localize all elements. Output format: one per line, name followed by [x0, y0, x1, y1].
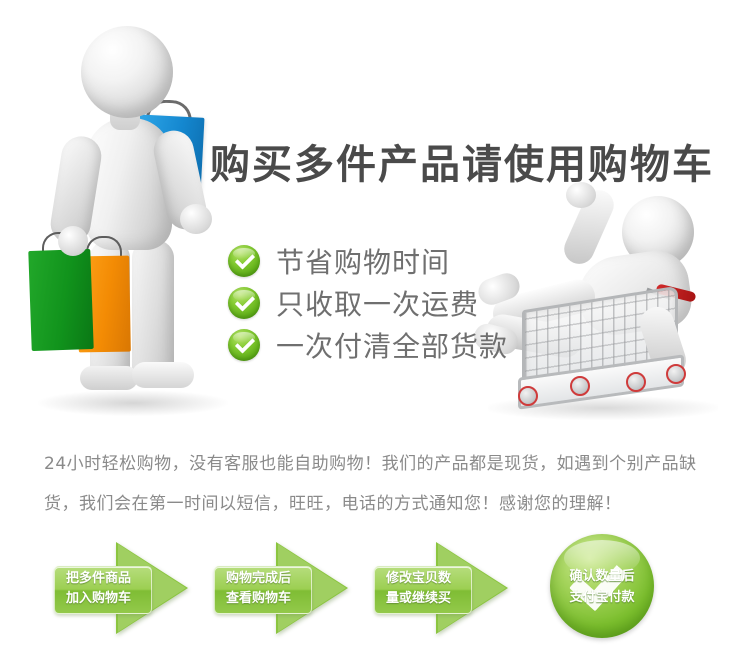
- cart-wheel: [570, 376, 590, 396]
- hero-section: 购买多件产品请使用购物车 节省购物时间 只收取一次运费 一次付清全部货款: [0, 0, 750, 430]
- step-label-line1: 购物完成后: [226, 569, 312, 589]
- step-label: 购物完成后 查看购物车: [220, 569, 312, 609]
- step-label-line1: 修改宝贝数: [386, 569, 472, 589]
- cart-wheel: [666, 364, 686, 384]
- status-badge: 确认数量后 支付宝付款: [550, 534, 654, 638]
- step-label: 把多件商品 加入购物车: [60, 569, 152, 609]
- cart-wheel: [626, 372, 646, 392]
- shopping-bag-green: [28, 249, 93, 351]
- shopper-figure-illustration: [28, 18, 248, 418]
- list-item: 节省购物时间: [228, 240, 508, 282]
- list-item-label: 一次付清全部货款: [276, 325, 508, 365]
- arrow-shape: 把多件商品 加入购物车: [54, 540, 214, 636]
- badge-label-line2: 支付宝付款: [550, 587, 654, 608]
- benefits-list: 节省购物时间 只收取一次运费 一次付清全部货款: [228, 240, 508, 366]
- badge-label: 确认数量后 支付宝付款: [550, 566, 654, 608]
- purchase-steps-flow: 把多件商品 加入购物车 购物完成后 查看购物车 修改宝贝数: [42, 540, 714, 640]
- list-item-label: 节省购物时间: [276, 241, 450, 281]
- step-2-view-cart: 购物完成后 查看购物车: [214, 540, 374, 636]
- check-circle-icon: [228, 329, 260, 361]
- arrow-shape: 购物完成后 查看购物车: [214, 540, 374, 636]
- step-label-line2: 查看购物车: [226, 589, 312, 609]
- figure-foot-right: [132, 362, 194, 388]
- check-circle-icon: [228, 245, 260, 277]
- arrow-shape: 修改宝贝数 量或继续买: [374, 540, 534, 636]
- check-circle-icon: [228, 287, 260, 319]
- list-item-label: 只收取一次运费: [276, 283, 479, 323]
- step-1-add-to-cart: 把多件商品 加入购物车: [54, 540, 214, 636]
- promo-banner: 购买多件产品请使用购物车 节省购物时间 只收取一次运费 一次付清全部货款 24小…: [0, 0, 750, 650]
- figure-leg-right: [132, 240, 174, 380]
- cart-rider-illustration: [470, 180, 740, 420]
- cart-wheel: [518, 386, 538, 406]
- step-label: 修改宝贝数 量或继续买: [380, 569, 472, 609]
- figure-head: [81, 26, 173, 118]
- figure-hand-right: [180, 204, 212, 234]
- badge-label-line1: 确认数量后: [550, 566, 654, 587]
- step-3-edit-quantity: 修改宝贝数 量或继续买: [374, 540, 534, 636]
- list-item: 只收取一次运费: [228, 282, 508, 324]
- step-4-confirm-and-pay: 确认数量后 支付宝付款: [536, 534, 662, 642]
- figure-shadow: [38, 390, 228, 416]
- page-title: 购买多件产品请使用购物车: [210, 132, 714, 190]
- figure-foot-left: [80, 366, 138, 390]
- step-label-line2: 量或继续买: [386, 589, 472, 609]
- step-label-line2: 加入购物车: [66, 589, 152, 609]
- list-item: 一次付清全部货款: [228, 324, 508, 366]
- service-description-text: 24小时轻松购物，没有客服也能自助购物！我们的产品都是现货，如遇到个别产品缺货，…: [44, 444, 704, 524]
- figure-hand-left: [58, 226, 88, 256]
- step-label-line1: 把多件商品: [66, 569, 152, 589]
